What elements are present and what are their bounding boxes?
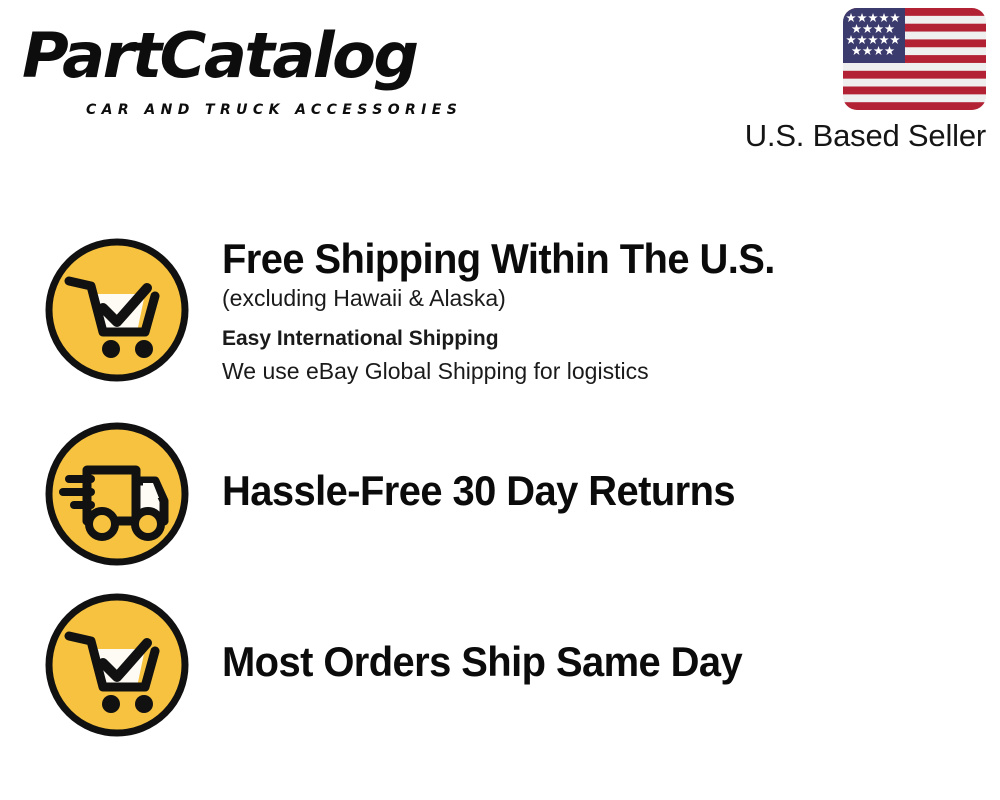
feature-subtext-international: Easy International Shipping bbox=[222, 322, 982, 355]
brand-tagline: CAR AND TRUCK ACCESSORIES bbox=[86, 102, 462, 118]
spacer bbox=[222, 315, 982, 322]
brand-wordmark: PartCatalog bbox=[22, 18, 506, 94]
feature-title: Most Orders Ship Same Day bbox=[222, 639, 944, 685]
feature-text-returns: Hassle-Free 30 Day Returns bbox=[222, 468, 982, 514]
feature-subtext-exclusions: (excluding Hawaii & Alaska) bbox=[222, 282, 982, 315]
feature-text-same-day: Most Orders Ship Same Day bbox=[222, 639, 982, 685]
feature-title: Free Shipping Within The U.S. bbox=[222, 236, 944, 282]
shopping-cart-check-icon bbox=[43, 236, 191, 384]
us-flag-icon bbox=[843, 8, 986, 110]
feature-text-free-shipping: Free Shipping Within The U.S. (excluding… bbox=[222, 236, 982, 388]
feature-title: Hassle-Free 30 Day Returns bbox=[222, 468, 944, 514]
feature-subtext-logistics: We use eBay Global Shipping for logistic… bbox=[222, 355, 982, 388]
us-based-seller-block: U.S. Based Seller bbox=[716, 8, 986, 154]
us-based-seller-label: U.S. Based Seller bbox=[716, 118, 986, 154]
delivery-truck-icon bbox=[43, 420, 191, 568]
shopping-cart-check-icon bbox=[43, 591, 191, 739]
seller-info-banner: PartCatalog CAR AND TRUCK ACCESSORIES bbox=[0, 0, 1000, 800]
brand-logo: PartCatalog CAR AND TRUCK ACCESSORIES bbox=[22, 18, 492, 113]
